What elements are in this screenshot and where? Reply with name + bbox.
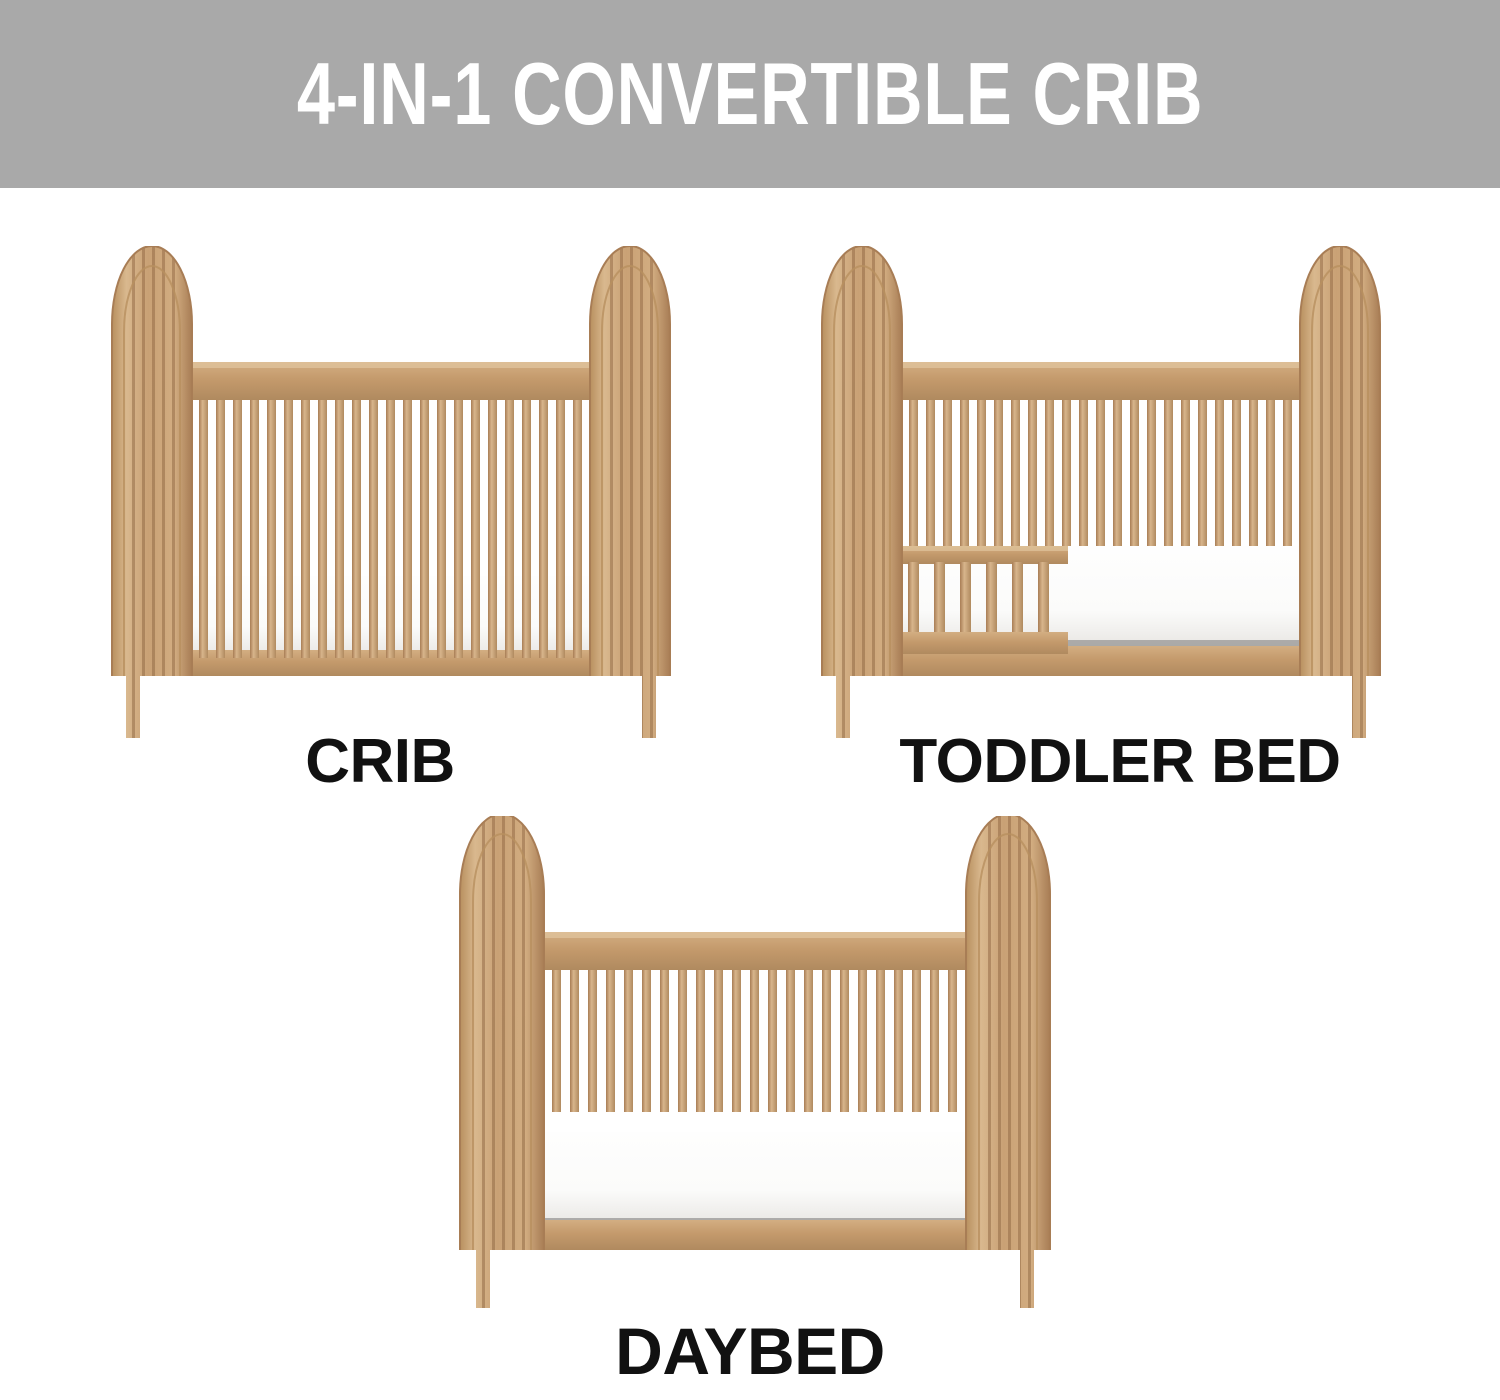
toddler-arch-left <box>822 246 902 738</box>
product-label-daybed: DAYBED <box>0 1318 1500 1384</box>
daybed-spindles <box>534 966 993 1118</box>
toddler-arch-right <box>1300 246 1380 738</box>
crib-arch-right <box>590 246 670 738</box>
page-title: 4-IN-1 CONVERTIBLE CRIB <box>297 50 1204 138</box>
daybed-arch-right <box>966 816 1050 1308</box>
product-image-toddler-bed <box>814 246 1388 738</box>
product-image-crib <box>104 246 678 738</box>
header-banner: 4-IN-1 CONVERTIBLE CRIB <box>0 0 1500 188</box>
product-label-toddler-bed: TODDLER BED <box>740 731 1500 793</box>
product-image-daybed <box>452 816 1058 1308</box>
daybed-arch-left <box>460 816 544 1308</box>
crib-arch-left <box>112 246 192 738</box>
product-label-crib: CRIB <box>0 731 760 793</box>
infographic-page: 4-IN-1 CONVERTIBLE CRIB <box>0 0 1500 1400</box>
daybed-mattress <box>494 1112 1018 1226</box>
toddler-rear-spindles <box>892 396 1343 546</box>
